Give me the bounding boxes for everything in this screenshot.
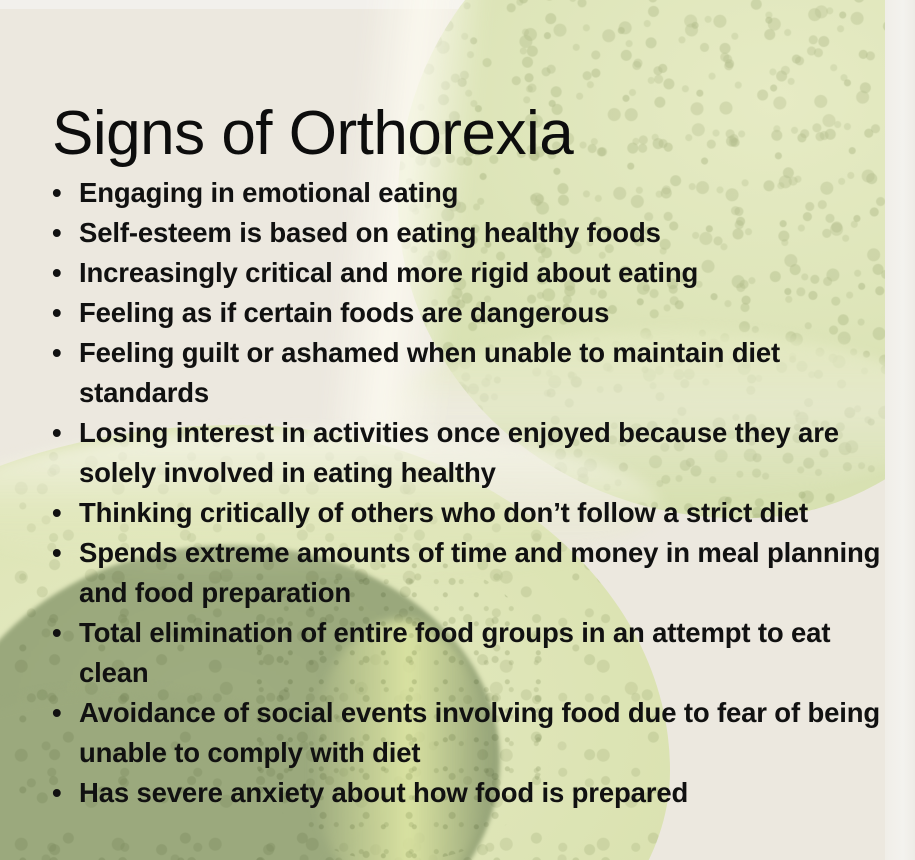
list-item-label: Feeling as if certain foods are dangerou… <box>79 297 609 328</box>
list-item: •Spends extreme amounts of time and mone… <box>50 533 890 613</box>
list-item: •Self-esteem is based on eating healthy … <box>50 213 890 253</box>
page-title: Signs of Orthorexia <box>52 98 573 169</box>
list-item: •Losing interest in activities once enjo… <box>50 413 890 493</box>
list-item: •Has severe anxiety about how food is pr… <box>50 773 890 813</box>
bullet-point-icon: • <box>52 613 61 653</box>
list-item-label: Feeling guilt or ashamed when unable to … <box>79 337 780 408</box>
list-item: •Feeling as if certain foods are dangero… <box>50 293 890 333</box>
list-item-label: Thinking critically of others who don’t … <box>79 497 808 528</box>
bullet-point-icon: • <box>52 173 61 213</box>
bullet-point-icon: • <box>52 333 61 373</box>
list-item-label: Self-esteem is based on eating healthy f… <box>79 217 661 248</box>
slide-content: Signs of Orthorexia •Engaging in emotion… <box>0 0 915 860</box>
list-item-label: Spends extreme amounts of time and money… <box>79 537 880 608</box>
list-item-label: Has severe anxiety about how food is pre… <box>79 777 688 808</box>
list-item: •Avoidance of social events involving fo… <box>50 693 890 773</box>
list-item-label: Total elimination of entire food groups … <box>79 617 830 688</box>
list-item-label: Engaging in emotional eating <box>79 177 458 208</box>
bullet-point-icon: • <box>52 493 61 533</box>
bullet-point-icon: • <box>52 413 61 453</box>
bullet-point-icon: • <box>52 533 61 573</box>
list-item-label: Increasingly critical and more rigid abo… <box>79 257 698 288</box>
list-item-label: Losing interest in activities once enjoy… <box>79 417 839 488</box>
signs-bullet-list: •Engaging in emotional eating•Self-estee… <box>50 173 890 813</box>
bullet-point-icon: • <box>52 693 61 733</box>
list-item: •Increasingly critical and more rigid ab… <box>50 253 890 293</box>
list-item: •Feeling guilt or ashamed when unable to… <box>50 333 890 413</box>
bullet-point-icon: • <box>52 293 61 333</box>
slide-canvas: Signs of Orthorexia •Engaging in emotion… <box>0 0 915 860</box>
list-item: •Thinking critically of others who don’t… <box>50 493 890 533</box>
bullet-point-icon: • <box>52 253 61 293</box>
list-item: •Total elimination of entire food groups… <box>50 613 890 693</box>
list-item: •Engaging in emotional eating <box>50 173 890 213</box>
bullet-point-icon: • <box>52 773 61 813</box>
list-item-label: Avoidance of social events involving foo… <box>79 697 880 768</box>
bullet-point-icon: • <box>52 213 61 253</box>
